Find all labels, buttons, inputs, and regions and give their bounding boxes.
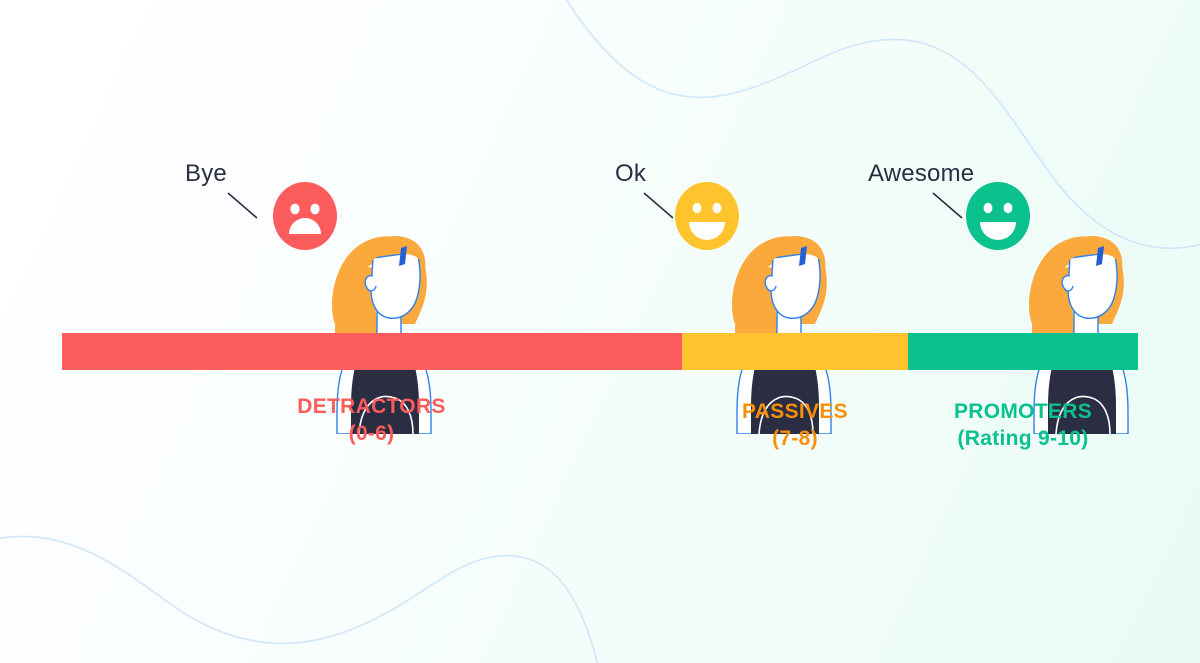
segment-caption-passives: PASSIVES (7-8) (682, 399, 908, 453)
shout-label-awesome: Awesome (868, 162, 974, 186)
segment-title-promoters: PROMOTERS (908, 399, 1138, 426)
nps-scale-illustration: Bye (0, 0, 1200, 663)
shout-label-ok: Ok (615, 162, 646, 186)
bar-segment-detractors[interactable] (62, 333, 682, 370)
bar-segment-promoters[interactable] (908, 333, 1138, 370)
segment-title-detractors: DETRACTORS (189, 394, 554, 421)
segment-title-passives: PASSIVES (682, 399, 908, 426)
segment-caption-detractors: DETRACTORS (0-6) (189, 394, 554, 448)
segment-range-detractors: (0-6) (189, 421, 554, 448)
segment-caption-promoters: PROMOTERS (Rating 9-10) (908, 399, 1138, 453)
segment-range-passives: (7-8) (682, 426, 908, 453)
nps-scale-bar (62, 333, 1138, 370)
pointer-line-awesome (930, 190, 970, 222)
shout-label-bye: Bye (185, 162, 227, 186)
pointer-line-bye (225, 190, 265, 222)
segment-range-promoters: (Rating 9-10) (908, 426, 1138, 453)
bar-segment-passives[interactable] (682, 333, 908, 370)
